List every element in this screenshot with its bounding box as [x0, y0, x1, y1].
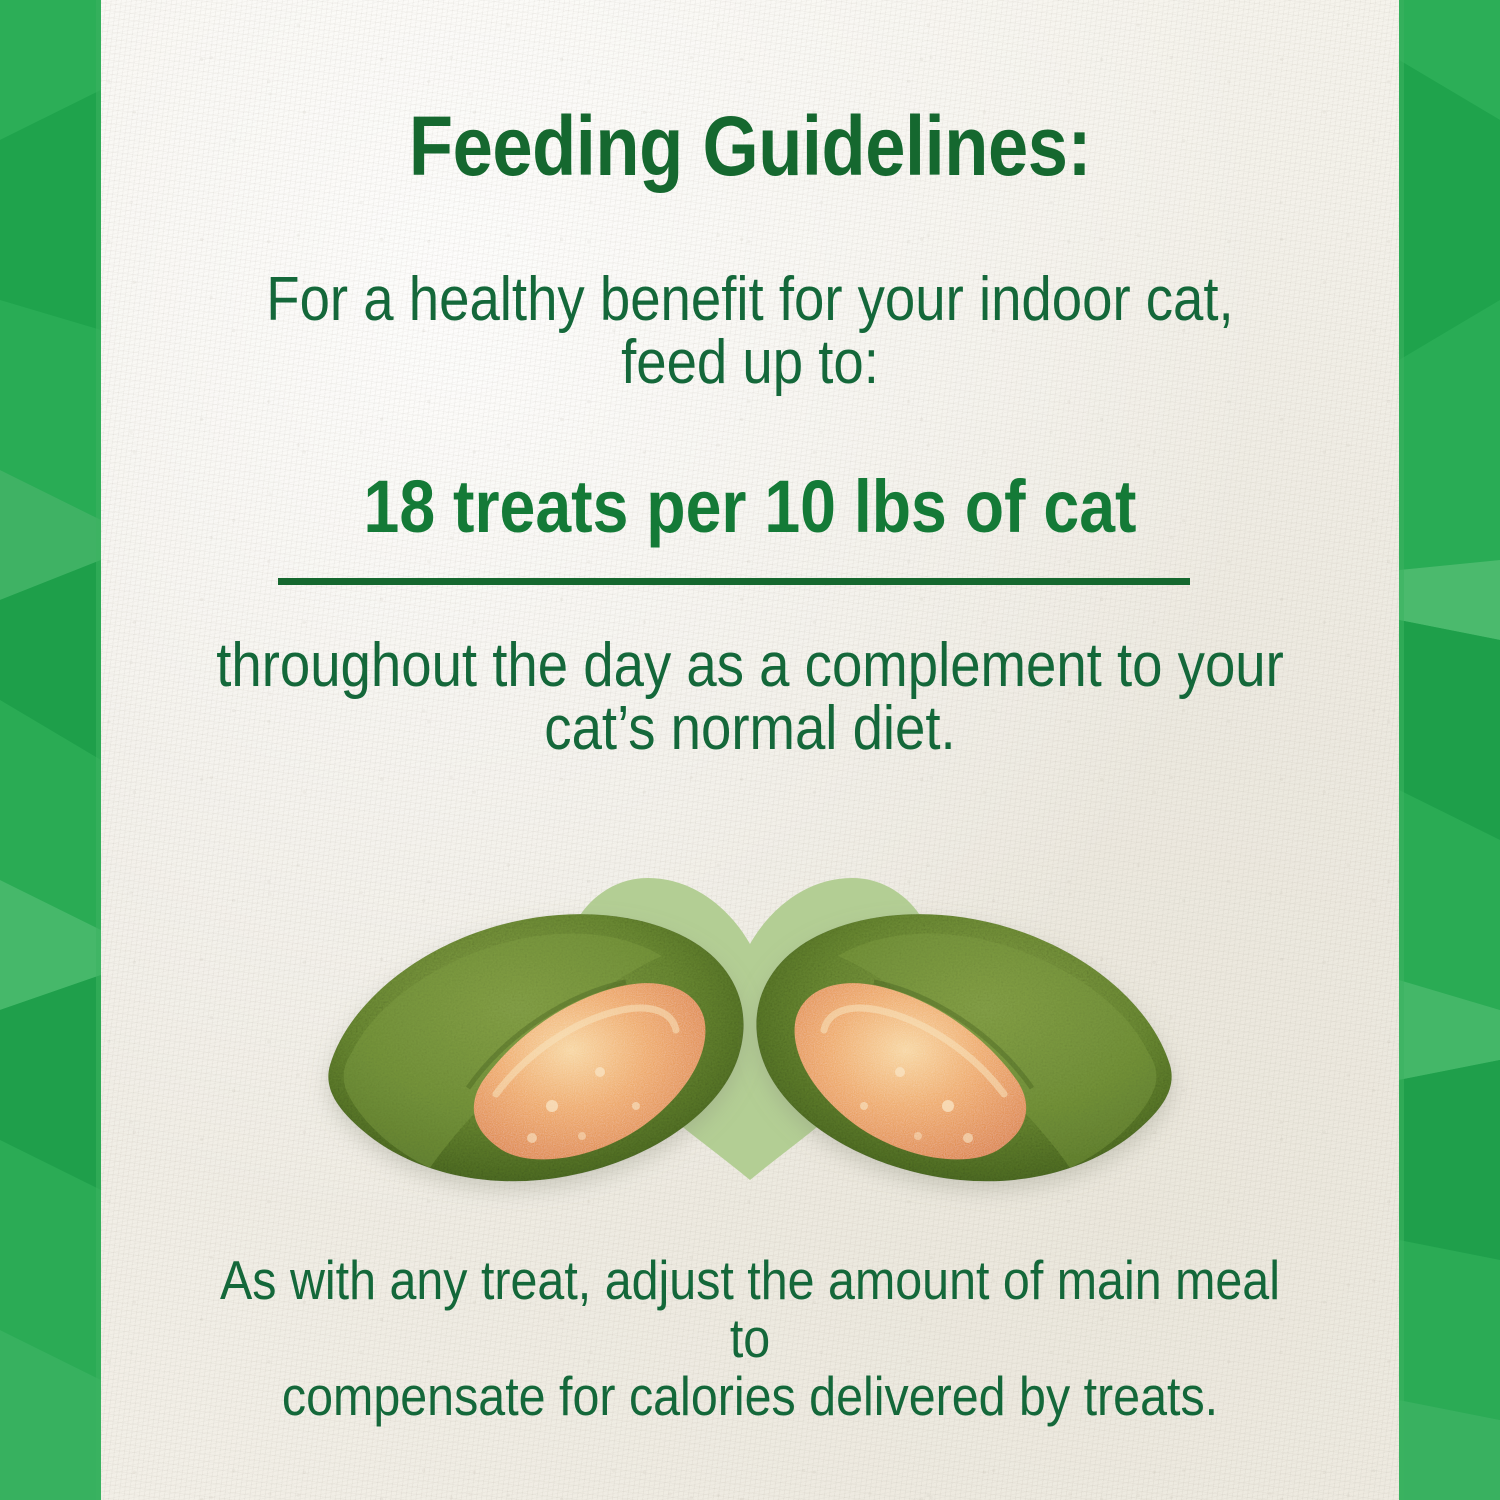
body-line-2: cat’s normal diet.: [196, 697, 1305, 760]
intro-line-1: For a healthy benefit for your indoor ca…: [204, 268, 1295, 331]
product-artwork: [300, 820, 1200, 1240]
body-line-1: throughout the day as a complement to yo…: [196, 634, 1305, 697]
treats-illustration: [300, 820, 1200, 1240]
left-border-facets: [0, 0, 101, 1500]
cat-treat-right-cutaway: [756, 914, 1171, 1181]
footnote-copy: As with any treat, adjust the amount of …: [196, 1252, 1305, 1425]
footnote-line-2: compensate for calories delivered by tre…: [196, 1368, 1305, 1426]
feeding-guidelines-panel: Feeding Guidelines: For a healthy benefi…: [0, 0, 1500, 1500]
footnote-line-1: As with any treat, adjust the amount of …: [196, 1252, 1305, 1368]
intro-line-2: feed up to:: [204, 331, 1295, 394]
body-copy: throughout the day as a complement to yo…: [196, 634, 1305, 760]
dosage-underline-rule: [278, 578, 1190, 585]
left-green-border: [0, 0, 101, 1500]
page-title: Feeding Guidelines:: [105, 104, 1395, 188]
right-green-border: [1399, 0, 1500, 1500]
dosage-statement: 18 treats per 10 lbs of cat: [98, 470, 1403, 544]
right-border-facets: [1399, 0, 1500, 1500]
intro-copy: For a healthy benefit for your indoor ca…: [204, 268, 1295, 394]
cat-treat-left-cutaway: [328, 914, 743, 1181]
